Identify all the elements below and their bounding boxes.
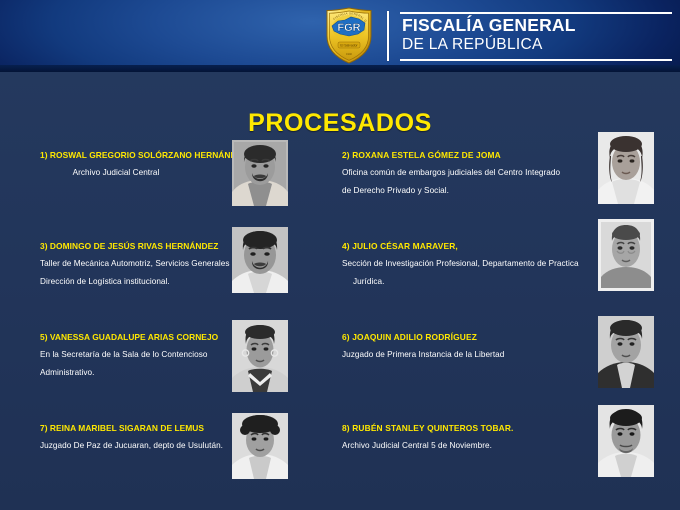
poster-body: PROCESADOS 1) ROSWAL GREGORIO SOLÓRZANO … bbox=[0, 72, 680, 510]
entry-3-desc-line-2: Dirección de Logística institucional. bbox=[40, 278, 232, 287]
entry-6-desc-line-1: Juzgado de Primera Instancia de la Liber… bbox=[342, 351, 598, 360]
entry-1-photo bbox=[232, 140, 288, 206]
brand-title: FISCALÍA GENERAL DE LA REPÚBLICA bbox=[400, 12, 672, 61]
entry-7-name: 7) REINA MARIBEL SIGARAN DE LEMUS bbox=[40, 423, 232, 433]
entry-4-name: 4) JULIO CÉSAR MARAVER, bbox=[342, 241, 598, 251]
entry-6-text: 6) JOAQUIN ADILIO RODRÍGUEZ Juzgado de P… bbox=[342, 328, 598, 369]
entry-6-name: 6) JOAQUIN ADILIO RODRÍGUEZ bbox=[342, 332, 598, 342]
entry-4-text: 4) JULIO CÉSAR MARAVER, Sección de Inves… bbox=[342, 237, 598, 295]
entry-5-text: 5) VANESSA GUADALUPE ARIAS CORNEJO En la… bbox=[40, 328, 232, 386]
entry-4-desc-line-2: Jurídica. bbox=[342, 278, 598, 287]
entry-3-photo bbox=[232, 227, 288, 293]
brand-divider bbox=[387, 11, 389, 61]
fgr-shield-icon: FGR El Salvador 1940 FISCALIA GENERAL DE… bbox=[318, 6, 380, 66]
entry-8: 8) RUBÉN STANLEY QUINTEROS TOBAR. Archiv… bbox=[330, 419, 680, 510]
entry-8-photo bbox=[598, 405, 654, 477]
entry-5-desc-line-1: En la Secretaría de la Sala de lo Conten… bbox=[40, 351, 232, 360]
svg-text:El Salvador: El Salvador bbox=[340, 44, 358, 48]
entry-3-text: 3) DOMINGO DE JESÚS RIVAS HERNÁNDEZ Tall… bbox=[40, 237, 232, 295]
page-title: PROCESADOS bbox=[0, 109, 680, 138]
entry-4: 4) JULIO CÉSAR MARAVER, Sección de Inves… bbox=[330, 237, 680, 328]
brand-title-line1: FISCALÍA GENERAL bbox=[400, 14, 672, 37]
svg-text:FGR: FGR bbox=[337, 22, 360, 34]
processed-persons-grid: 1) ROSWAL GREGORIO SOLÓRZANO HERNÁNDEZ A… bbox=[0, 146, 680, 510]
brand-lockup: FGR El Salvador 1940 FISCALIA GENERAL DE… bbox=[318, 6, 672, 66]
entry-1-name: 1) ROSWAL GREGORIO SOLÓRZANO HERNÁNDEZ bbox=[40, 150, 232, 160]
entry-1-text: 1) ROSWAL GREGORIO SOLÓRZANO HERNÁNDEZ A… bbox=[40, 146, 232, 187]
entry-2-desc-line-1: Oficina común de embargos judiciales del… bbox=[342, 169, 598, 178]
entry-5-photo bbox=[232, 320, 288, 392]
procesados-poster: FGR El Salvador 1940 FISCALIA GENERAL DE… bbox=[0, 0, 680, 510]
entry-7-text: 7) REINA MARIBEL SIGARAN DE LEMUS Juzgad… bbox=[40, 419, 232, 460]
entry-2-text: 2) ROXANA ESTELA GÓMEZ DE JOMA Oficina c… bbox=[342, 146, 598, 204]
entry-3-desc-line-1: Taller de Mecánica Automotriz, Servicios… bbox=[40, 260, 232, 269]
page-header: FGR El Salvador 1940 FISCALIA GENERAL DE… bbox=[0, 0, 680, 72]
entry-8-text: 8) RUBÉN STANLEY QUINTEROS TOBAR. Archiv… bbox=[342, 419, 598, 460]
brand-title-line2: DE LA REPÚBLICA bbox=[400, 36, 672, 56]
svg-text:1940: 1940 bbox=[346, 52, 352, 56]
entry-7-desc-line-1: Juzgado De Paz de Jucuaran, depto de Usu… bbox=[40, 442, 232, 451]
entry-6-photo bbox=[598, 316, 654, 388]
entry-5-desc-line-2: Administrativo. bbox=[40, 369, 232, 378]
entry-5-name: 5) VANESSA GUADALUPE ARIAS CORNEJO bbox=[40, 332, 232, 342]
entry-8-desc-line-1: Archivo Judicial Central 5 de Noviembre. bbox=[342, 442, 598, 451]
entry-7-photo bbox=[232, 413, 288, 479]
entry-2-desc-line-2: de Derecho Privado y Social. bbox=[342, 187, 598, 196]
entry-2-photo bbox=[598, 132, 654, 204]
entry-4-photo bbox=[598, 219, 654, 291]
entry-5: 5) VANESSA GUADALUPE ARIAS CORNEJO En la… bbox=[0, 328, 330, 419]
entry-1: 1) ROSWAL GREGORIO SOLÓRZANO HERNÁNDEZ A… bbox=[0, 146, 330, 237]
brand-rule-bottom bbox=[400, 59, 672, 61]
entry-4-desc-line-1: Sección de Investigación Profesional, De… bbox=[342, 260, 598, 269]
entry-1-desc-line-1: Archivo Judicial Central bbox=[40, 169, 232, 178]
entry-8-name: 8) RUBÉN STANLEY QUINTEROS TOBAR. bbox=[342, 423, 598, 433]
entry-7: 7) REINA MARIBEL SIGARAN DE LEMUS Juzgad… bbox=[0, 419, 330, 510]
entry-2-name: 2) ROXANA ESTELA GÓMEZ DE JOMA bbox=[342, 150, 598, 160]
entry-3: 3) DOMINGO DE JESÚS RIVAS HERNÁNDEZ Tall… bbox=[0, 237, 330, 328]
entry-3-name: 3) DOMINGO DE JESÚS RIVAS HERNÁNDEZ bbox=[40, 241, 232, 251]
